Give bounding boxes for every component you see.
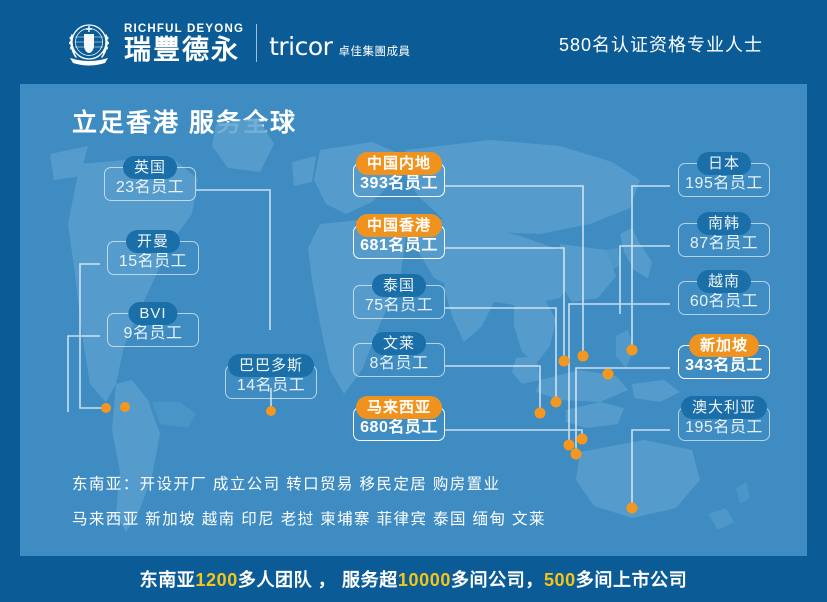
location-label-south-korea[interactable]: 南韩 87名员工 xyxy=(678,212,770,257)
slide-root: RICHFUL DEYONG 瑞豐德永 tricor 卓佳集團成員 580名认证… xyxy=(0,0,827,602)
location-name: 越南 xyxy=(697,270,751,293)
location-name: 马来西亚 xyxy=(356,396,442,419)
partner-brand-text: tricor xyxy=(269,32,332,61)
location-label-barbados[interactable]: 巴巴多斯 14名员工 xyxy=(225,354,317,399)
crest-emblem-icon xyxy=(62,17,116,71)
location-label-vietnam[interactable]: 越南 60名员工 xyxy=(678,270,770,315)
location-name: 日本 xyxy=(697,152,751,175)
location-name: 南韩 xyxy=(697,212,751,235)
notes-block: 东南亚：开设开厂 成立公司 转口贸易 移民定居 购房置业 马来西亚 新加坡 越南… xyxy=(72,472,546,542)
note-line-countries: 马来西亚 新加坡 越南 印尼 老挝 柬埔寨 菲律宾 泰国 缅甸 文莱 xyxy=(72,507,546,529)
location-label-brunei[interactable]: 文莱 8名员工 xyxy=(353,332,445,377)
location-label-singapore[interactable]: 新加坡 343名员工 xyxy=(678,334,770,379)
logo-english-text: RICHFUL DEYONG xyxy=(124,24,244,36)
location-label-australia[interactable]: 澳大利亚 195名员工 xyxy=(678,396,770,441)
location-label-malaysia[interactable]: 马来西亚 680名员工 xyxy=(353,396,445,441)
location-name: 英国 xyxy=(123,156,177,179)
location-name: 文莱 xyxy=(372,332,426,355)
note-line-services: 东南亚：开设开厂 成立公司 转口贸易 移民定居 购房置业 xyxy=(72,472,546,494)
brand-logo: RICHFUL DEYONG 瑞豐德永 tricor 卓佳集團成員 xyxy=(62,17,410,71)
header-bar: RICHFUL DEYONG 瑞豐德永 tricor 卓佳集團成員 580名认证… xyxy=(0,0,827,84)
footer-bar: 东南亚1200多人团队 ， 服务超10000多间公司，500多间上市公司 xyxy=(0,556,827,602)
location-name: 中国香港 xyxy=(356,214,442,237)
location-name: 巴巴多斯 xyxy=(228,354,314,377)
location-name: 中国内地 xyxy=(356,152,442,175)
map-panel: 立足香港 服务全球 xyxy=(20,84,807,556)
location-name: 泰国 xyxy=(372,274,426,297)
location-name: 澳大利亚 xyxy=(681,396,767,419)
location-label-hong-kong[interactable]: 中国香港 681名员工 xyxy=(353,214,445,259)
location-name: 新加坡 xyxy=(689,334,759,357)
location-label-bvi[interactable]: BVI 9名员工 xyxy=(107,302,199,347)
footer-statement: 东南亚1200多人团队 ， 服务超10000多间公司，500多间上市公司 xyxy=(140,566,688,592)
location-name: 开曼 xyxy=(126,230,180,253)
location-label-cayman[interactable]: 开曼 15名员工 xyxy=(107,230,199,275)
logo-divider xyxy=(256,24,257,62)
logo-chinese-text: 瑞豐德永 xyxy=(124,37,244,64)
partner-brand-subtext: 卓佳集團成員 xyxy=(338,43,410,59)
location-label-mainland-china[interactable]: 中国内地 393名员工 xyxy=(353,152,445,197)
location-label-uk[interactable]: 英国 23名员工 xyxy=(104,156,196,201)
location-label-thailand[interactable]: 泰国 75名员工 xyxy=(353,274,445,319)
location-label-japan[interactable]: 日本 195名员工 xyxy=(678,152,770,197)
header-tagline: 580名认证资格专业人士 xyxy=(559,31,763,57)
location-name: BVI xyxy=(128,302,177,325)
